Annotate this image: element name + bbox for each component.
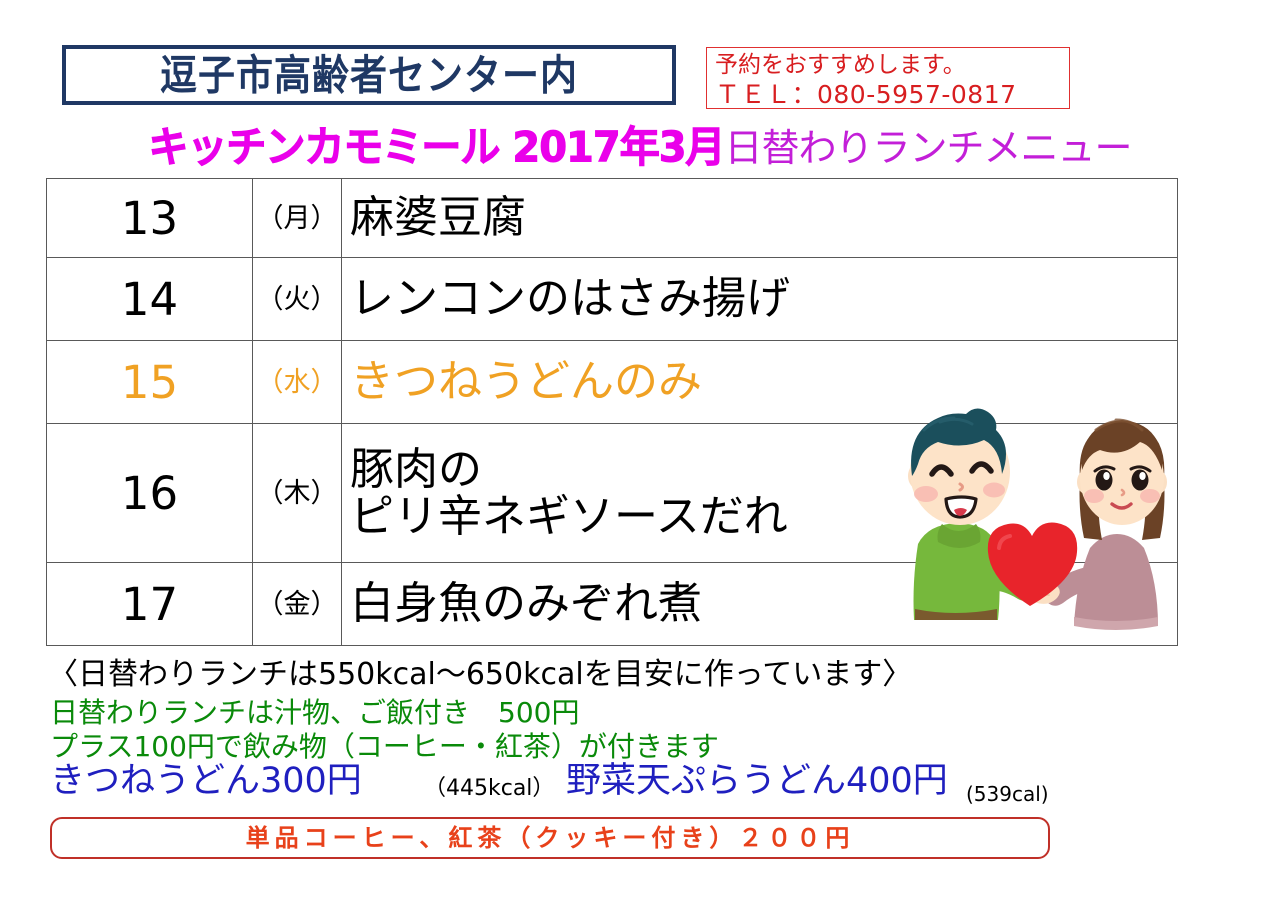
table-row-highlighted: 15 （水） きつねうどんのみ xyxy=(47,341,1178,424)
menu-dow-cell: （水） xyxy=(253,341,342,424)
menu-day: 16 xyxy=(47,471,252,516)
table-row: 17 （金） 白身魚のみぞれ煮 xyxy=(47,563,1178,646)
menu-day: 15 xyxy=(47,360,252,405)
tempura-udon-kcal: (539cal) xyxy=(966,784,1049,804)
menu-dow: （金） xyxy=(253,591,341,618)
reservation-box: 予約をおすすめします。 ＴＥＬ：080-5957-0817 xyxy=(706,47,1070,109)
coffee-offer-box: 単品コーヒー、紅茶（クッキー付き）２００円 xyxy=(50,817,1050,859)
table-row: 14 （火） レンコンのはさみ揚げ xyxy=(47,258,1178,341)
menu-day-cell: 15 xyxy=(47,341,253,424)
menu-day: 13 xyxy=(47,196,252,241)
menu-dish-cell: 白身魚のみぞれ煮 xyxy=(342,563,1178,646)
menu-dish: きつねうどんのみ xyxy=(342,358,1177,405)
menu-day-cell: 16 xyxy=(47,424,253,563)
menu-dish: 麻婆豆腐 xyxy=(342,194,1177,241)
menu-day: 14 xyxy=(47,277,252,322)
reservation-note: 予約をおすすめします。 xyxy=(715,51,1069,80)
menu-dish: レンコンのはさみ揚げ xyxy=(342,275,1177,322)
lunch-price-note: 日替わりランチは汁物、ご飯付き 500円 xyxy=(50,699,579,727)
menu-dish-cell: レンコンのはさみ揚げ xyxy=(342,258,1178,341)
kitsune-udon-kcal: （445kcal） xyxy=(424,778,554,800)
menu-table: 13 （月） 麻婆豆腐 14 （火） レンコンのはさみ揚げ xyxy=(46,178,1178,646)
menu-dow-cell: （月） xyxy=(253,179,342,258)
table-row: 16 （木） 豚肉の ピリ辛ネギソースだれ xyxy=(47,424,1178,563)
menu-day-cell: 14 xyxy=(47,258,253,341)
venue-title: 逗子市高齢者センター内 xyxy=(160,54,578,95)
menu-day-cell: 17 xyxy=(47,563,253,646)
menu-dow-cell: （木） xyxy=(253,424,342,563)
menu-dow: （木） xyxy=(253,480,341,507)
menu-dow: （火） xyxy=(253,286,341,313)
headline-brand: キッチンカモミール 2017年3月 xyxy=(148,127,724,169)
menu-dow-cell: （火） xyxy=(253,258,342,341)
tempura-udon-price: 野菜天ぷらうどん400円 xyxy=(566,764,948,799)
drink-addon-note: プラス100円で飲み物（コーヒー・紅茶）が付きます xyxy=(50,733,719,761)
coffee-offer-text: 単品コーヒー、紅茶（クッキー付き）２００円 xyxy=(246,826,855,850)
venue-title-box: 逗子市高齢者センター内 xyxy=(62,45,676,105)
headline: キッチンカモミール 2017年3月日替わりランチメニュー xyxy=(0,128,1280,168)
menu-dish-cell: 豚肉の ピリ辛ネギソースだれ xyxy=(342,424,1178,563)
table-row: 13 （月） 麻婆豆腐 xyxy=(47,179,1178,258)
udon-price-row: きつねうどん300円 （445kcal） 野菜天ぷらうどん400円 (539ca… xyxy=(50,764,1150,808)
menu-day-cell: 13 xyxy=(47,179,253,258)
menu-dow: （水） xyxy=(253,369,341,396)
menu-dow-cell: （金） xyxy=(253,563,342,646)
menu-day: 17 xyxy=(47,582,252,627)
telephone-number: ＴＥＬ：080-5957-0817 xyxy=(715,80,1069,109)
menu-dish-cell: きつねうどんのみ xyxy=(342,341,1178,424)
menu-dow: （月） xyxy=(253,205,341,232)
kcal-range-note: 〈日替わりランチは550kcal〜650kcalを目安に作っています〉 xyxy=(48,660,912,690)
menu-dish: 白身魚のみぞれ煮 xyxy=(342,580,1177,627)
kitsune-udon-price: きつねうどん300円 xyxy=(50,764,362,799)
menu-dish: 豚肉の ピリ辛ネギソースだれ xyxy=(342,446,1177,540)
menu-poster: 逗子市高齢者センター内 予約をおすすめします。 ＴＥＬ：080-5957-081… xyxy=(0,0,1280,904)
menu-dish-cell: 麻婆豆腐 xyxy=(342,179,1178,258)
headline-subtitle: 日替わりランチメニュー xyxy=(725,129,1132,167)
